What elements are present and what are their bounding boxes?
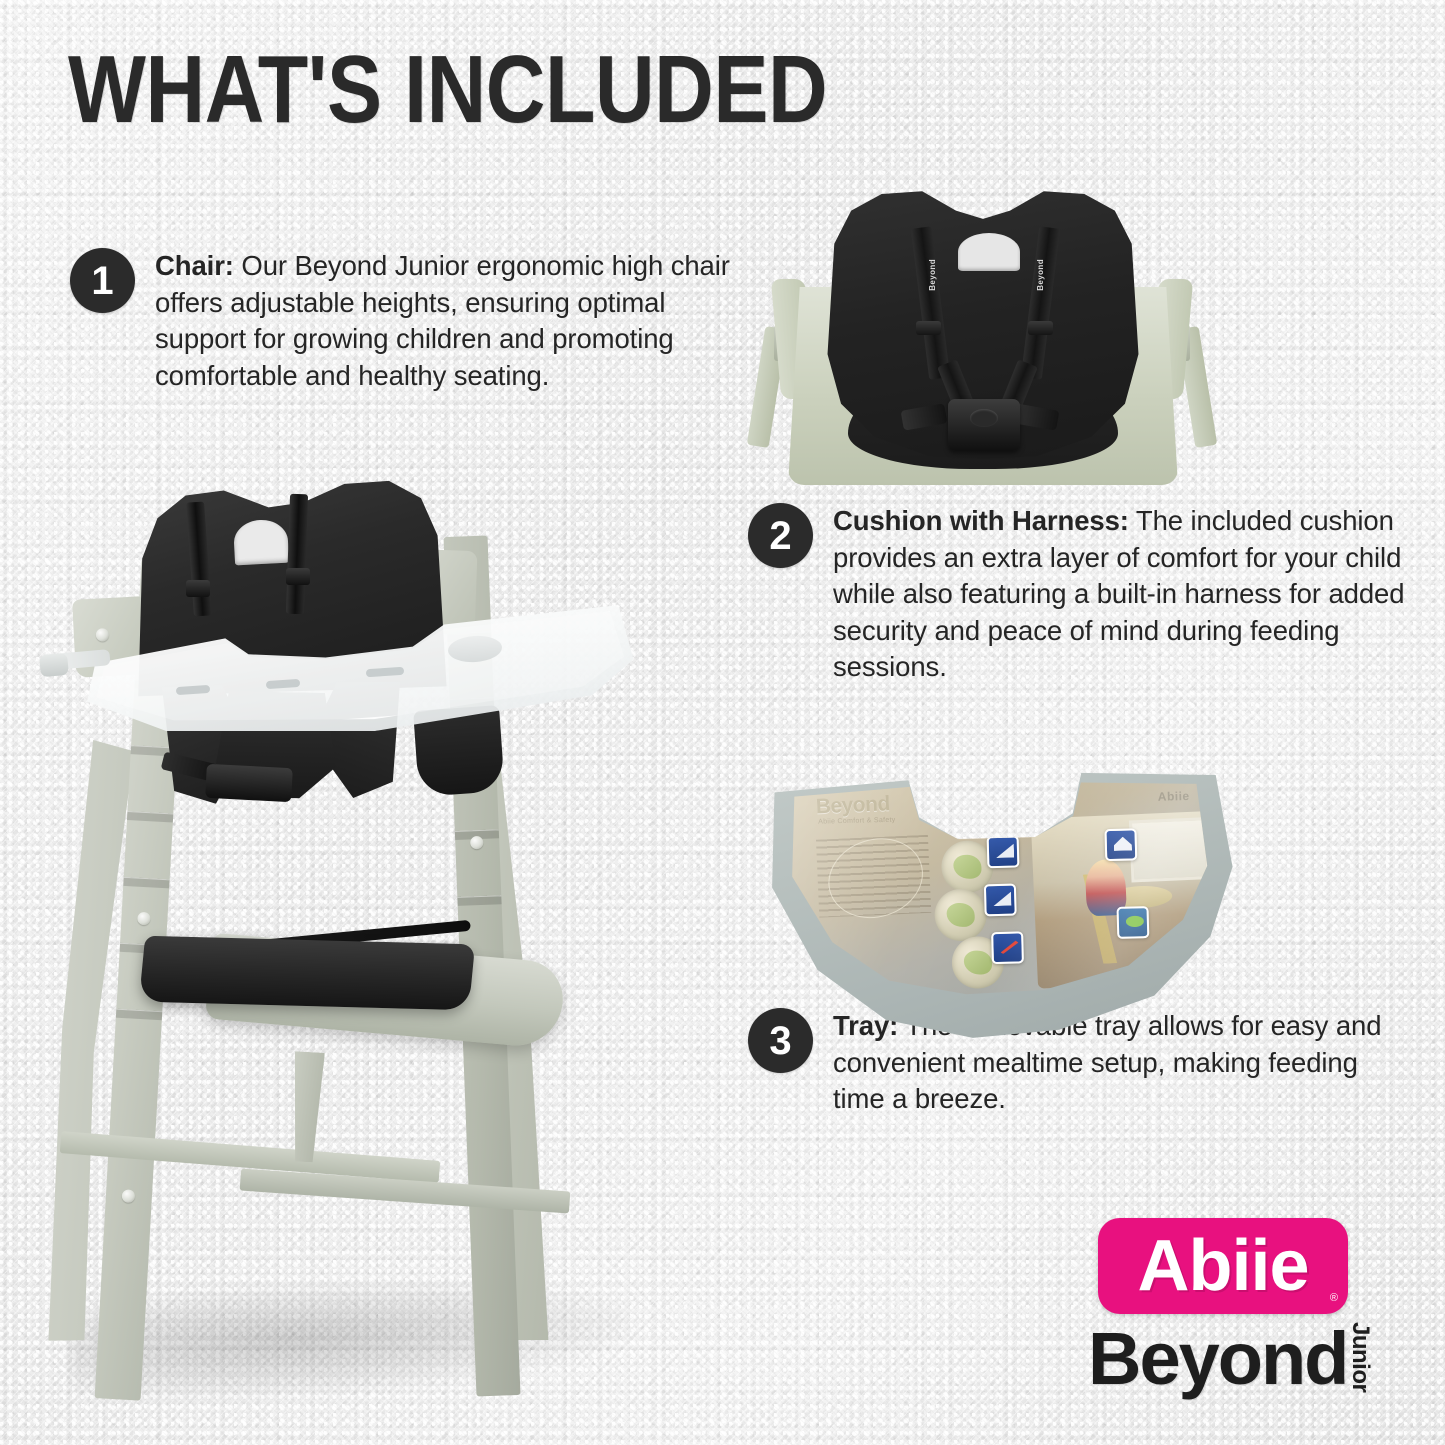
tray-insert-subtext: Abiie Comfort & Safety	[818, 817, 896, 826]
tray-insert-badge-easy-clean-icon	[991, 931, 1024, 964]
logo-brand-text: Abiie	[1098, 1218, 1348, 1314]
chair-screw	[137, 912, 151, 926]
tray-insert-brand-text: Beyond	[815, 792, 890, 819]
tray-insert-badge-eco-friendly-icon	[1117, 906, 1150, 939]
tray-insert-corner-brand: Abiie	[1158, 789, 1190, 804]
feature-heading-2: Cushion with Harness:	[833, 505, 1129, 536]
feature-text-2: Cushion with Harness: The included cushi…	[833, 503, 1408, 686]
feature-item-cushion: 2 Cushion with Harness: The included cus…	[748, 503, 1408, 686]
product-image-cushion: Beyond Beyond	[752, 175, 1212, 485]
chair-screw	[470, 836, 483, 849]
tray-photo-window	[1129, 817, 1210, 882]
badge-glyph-5	[1126, 914, 1144, 928]
logo-pink-pill: Abiie ®	[1098, 1218, 1348, 1314]
logo-registered-mark: ®	[1330, 1292, 1338, 1304]
tray-insert-circle-photo-2	[934, 888, 987, 941]
harness-strap-label-right: Beyond	[1036, 259, 1045, 291]
badge-glyph-3	[1000, 939, 1018, 953]
cushion-handle-cutout	[958, 233, 1020, 271]
chair-seat-cushion	[139, 936, 475, 1010]
harness-adjuster-right	[1028, 321, 1053, 335]
height-notch	[123, 877, 169, 889]
chair-screw	[96, 628, 110, 642]
tray-insert-badge-adjustable-icon	[984, 884, 1017, 917]
chair-cushion-handle-cutout	[233, 519, 289, 566]
tray-insert-badge-dishwasher-icon	[987, 835, 1020, 868]
chair-tray-release-knob	[39, 653, 69, 677]
height-notch	[457, 895, 501, 906]
brand-logo: Abiie ® Beyond Junior	[1078, 1218, 1378, 1428]
product-image-tray: Beyond Abiie Comfort & Safety Abiie	[758, 752, 1238, 1040]
logo-product-line-text: Beyond	[1088, 1322, 1347, 1396]
chair-screw	[122, 1189, 136, 1203]
height-notch	[116, 1009, 162, 1021]
page-title: WHAT'S INCLUDED	[68, 42, 827, 138]
feature-body-1: Our Beyond Junior ergonomic high chair o…	[155, 250, 730, 391]
tray-insert-badge-home-icon	[1104, 828, 1137, 861]
badge-glyph-4	[1114, 836, 1132, 850]
logo-product-variant-text: Junior	[1346, 1322, 1374, 1392]
feature-item-chair: 1 Chair: Our Beyond Junior ergonomic hig…	[70, 248, 730, 394]
badge-glyph-2	[993, 892, 1011, 906]
chair-harness-adjuster-right	[286, 568, 310, 585]
chair-lap-buckle	[205, 764, 293, 802]
product-image-highchair	[30, 440, 680, 1370]
feature-text-1: Chair: Our Beyond Junior ergonomic high …	[155, 248, 730, 394]
feature-number-badge-1: 1	[70, 248, 135, 313]
chair-center-strut	[289, 1051, 325, 1162]
harness-strap-label-left: Beyond	[928, 259, 937, 291]
chair-harness-adjuster-left	[186, 580, 210, 597]
harness-center-buckle	[948, 399, 1020, 451]
feature-heading-1: Chair:	[155, 250, 234, 281]
feature-number-badge-2: 2	[748, 503, 813, 568]
height-notch	[127, 811, 173, 823]
harness-adjuster-left	[916, 321, 941, 335]
badge-glyph-1	[996, 844, 1014, 858]
